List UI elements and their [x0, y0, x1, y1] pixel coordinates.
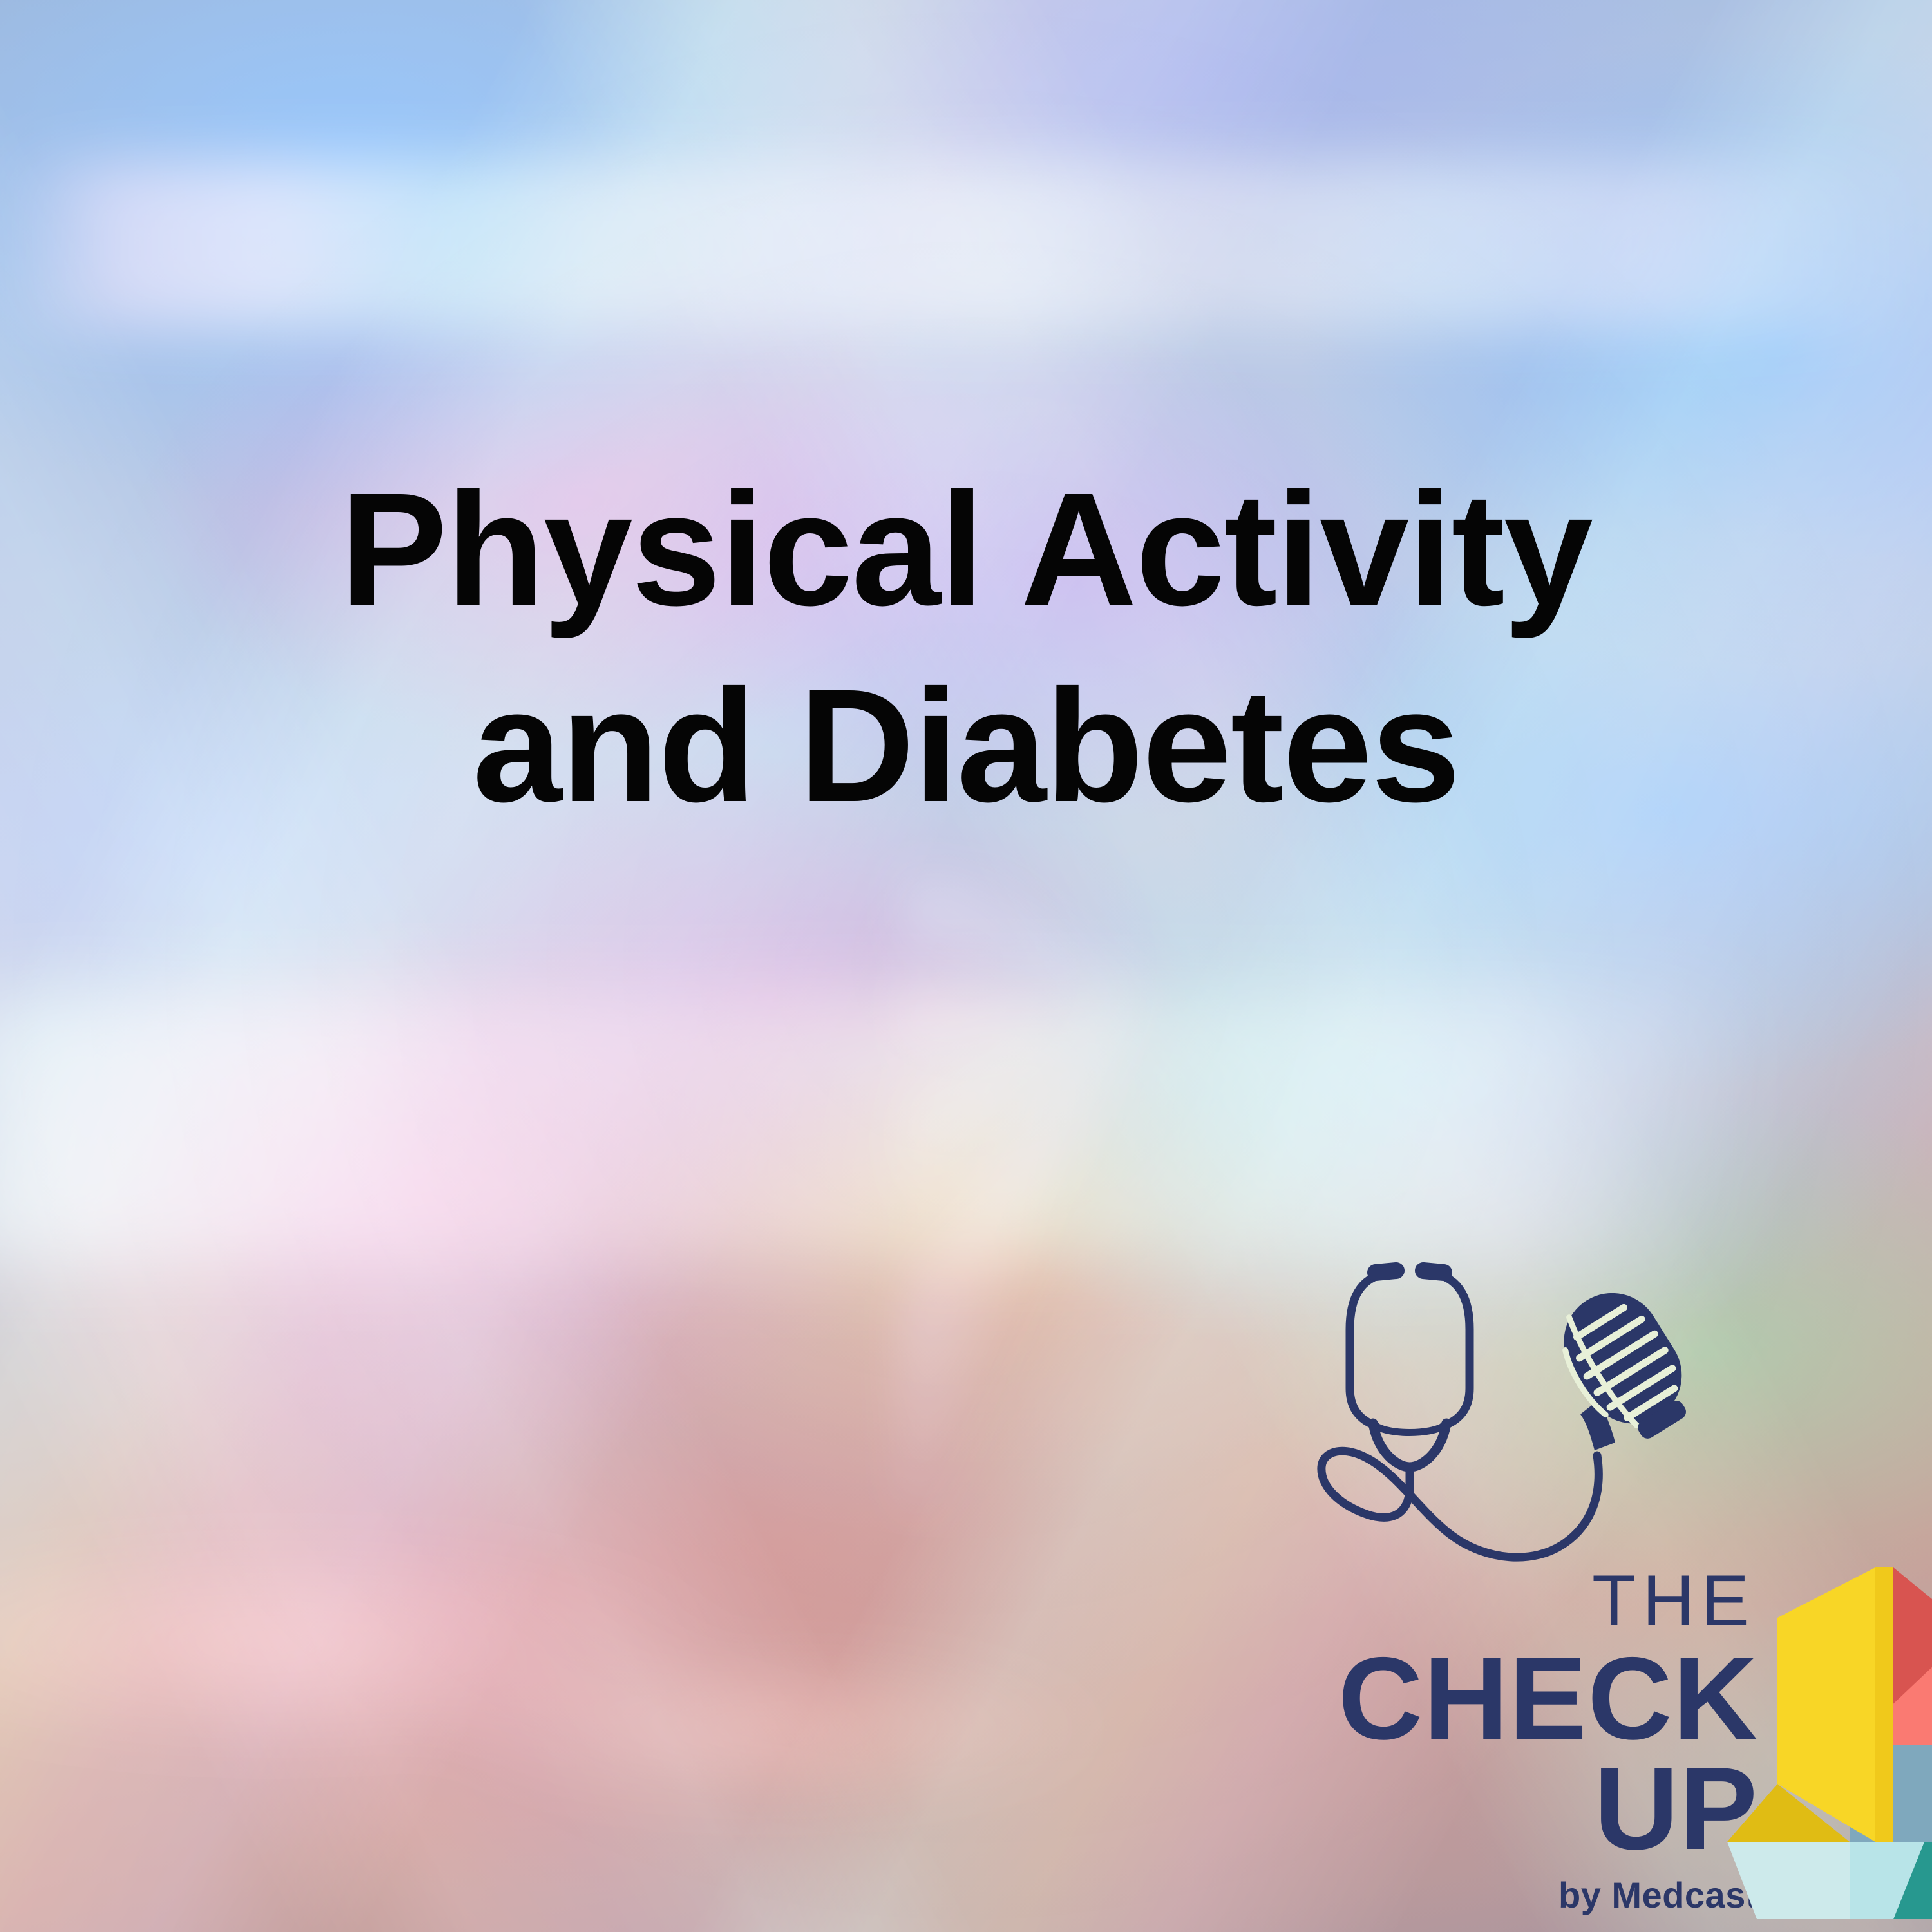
episode-title-line-1: Physical Activity [0, 451, 1932, 647]
background-caustic-band-lower [0, 992, 1739, 1262]
brand-word-the: THE [1314, 1565, 1758, 1637]
podcast-cover-art: Physical Activity and Diabetes [0, 0, 1932, 1932]
brand-byline: by Medcast [1314, 1877, 1758, 1913]
background-caustic-band-upper [0, 161, 1932, 328]
stethoscope-microphone-mark [1314, 1262, 1726, 1604]
episode-title: Physical Activity and Diabetes [0, 451, 1932, 844]
brand-wordmark: THE CHECK UP by Medcast [1314, 1565, 1758, 1913]
brand-word-up: UP [1314, 1752, 1758, 1865]
the-check-up-logo-lockup: THE CHECK UP by Medcast [1314, 1262, 1932, 1913]
stethoscope-icon [1321, 1271, 1598, 1557]
medcast-prism-icon [1700, 1558, 1932, 1919]
episode-title-line-2: and Diabetes [0, 647, 1932, 844]
retro-microphone-icon [1544, 1275, 1708, 1455]
brand-word-check: CHECK [1314, 1642, 1758, 1755]
background-coral-arc [0, 1449, 1352, 1835]
